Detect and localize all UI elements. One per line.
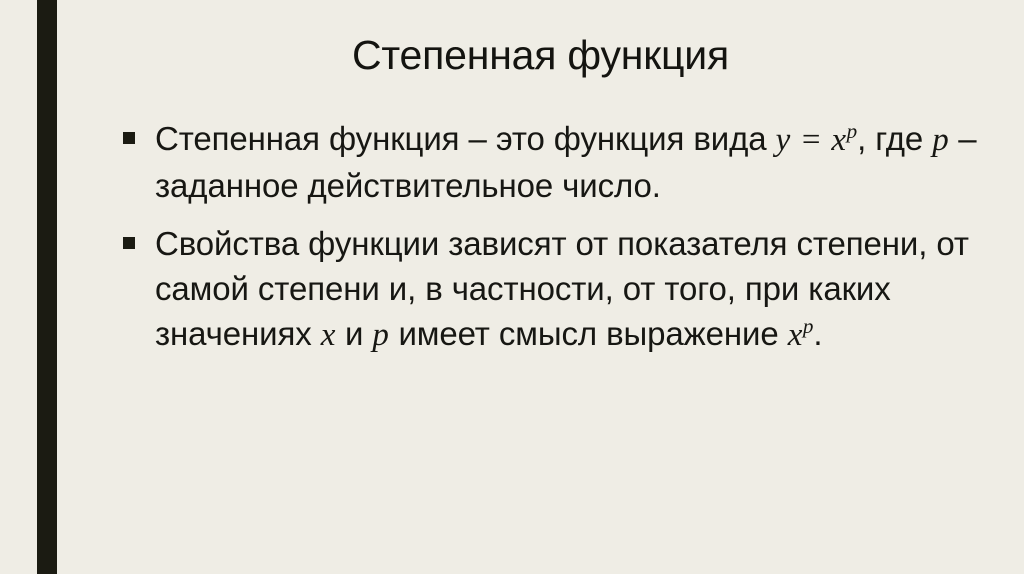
bullet-2-math-p-exponent: p [803,314,814,338]
bullet-2-math-x-base: x [788,317,803,353]
bullet-item-2-text: Свойства функции зависят от показателя с… [155,221,978,358]
bullet-2-math-p: p [372,317,389,353]
bullet-item-1: Степенная функция – это функция вида y =… [118,116,978,208]
bullet-square-icon [123,132,135,144]
bullet-2-math-x: x [321,317,336,353]
bullet-1-math-p-exponent: p [847,119,858,143]
bullet-2-part-2: и [345,315,363,352]
bullet-1-math-equals: = [800,122,823,158]
bullet-1-math-p: p [932,122,949,158]
bullet-1-math-x-base: x [831,122,846,158]
bullet-1-part-2: , где [857,120,923,157]
bullet-1-math-y: y [776,122,791,158]
slide-title: Степенная функция [57,27,1024,83]
bullet-2-part-3: имеет смысл выражение [398,315,778,352]
bullet-2-part-4: . [813,315,822,352]
bullet-item-2: Свойства функции зависят от показателя с… [118,221,978,358]
bullet-item-1-text: Степенная функция – это функция вида y =… [155,116,978,208]
bullet-1-part-1: Степенная функция – это функция вида [155,120,767,157]
slide-body: Степенная функция – это функция вида y =… [118,116,978,358]
bullet-1-math-x-pow-p: xp [831,122,857,158]
left-accent-bar [37,0,57,574]
bullet-square-icon [123,237,135,249]
bullet-2-math-x-pow-p: xp [788,317,814,353]
presentation-slide: Степенная функция Степенная функция – эт… [0,0,1024,574]
